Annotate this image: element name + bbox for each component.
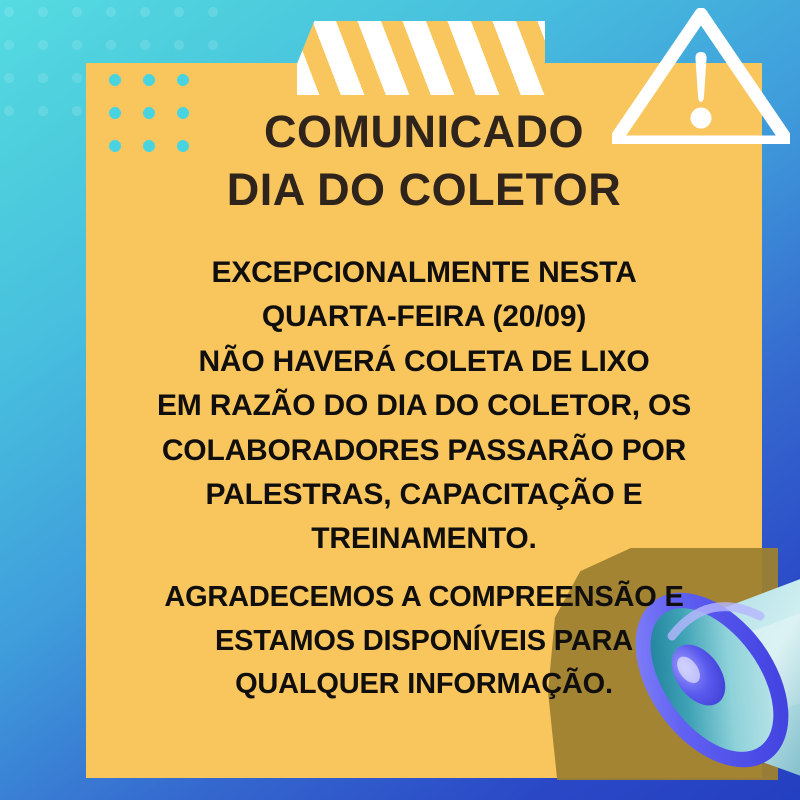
poster-content: COMUNICADO DIA DO COLETOR EXCEPCIONALMEN…: [86, 63, 762, 778]
title-block: COMUNICADO DIA DO COLETOR: [86, 103, 762, 218]
body-line-5: COLABORADORES PASSARÃO POR: [86, 429, 762, 473]
body-line-4: EM RAZÃO DO DIA DO COLETOR, OS: [86, 384, 762, 428]
body-line-7: TREINAMENTO.: [86, 517, 762, 561]
closing-text-block: AGRADECEMOS A COMPREENSÃO E ESTAMOS DISP…: [86, 576, 762, 707]
body-line-2: QUARTA-FEIRA (20/09): [86, 295, 762, 339]
page-title-line-2: DIA DO COLETOR: [86, 161, 762, 219]
closing-line-3: QUALQUER INFORMAÇÃO.: [86, 663, 762, 707]
poster-canvas: COMUNICADO DIA DO COLETOR EXCEPCIONALMEN…: [0, 0, 800, 800]
closing-line-2: ESTAMOS DISPONÍVEIS PARA: [86, 620, 762, 664]
body-line-6: PALESTRAS, CAPACITAÇÃO E: [86, 473, 762, 517]
body-line-1: EXCEPCIONALMENTE NESTA: [86, 251, 762, 295]
page-title-line-1: COMUNICADO: [86, 103, 762, 161]
body-line-3: NÃO HAVERÁ COLETA DE LIXO: [86, 340, 762, 384]
closing-line-1: AGRADECEMOS A COMPREENSÃO E: [86, 576, 762, 620]
body-text-block: EXCEPCIONALMENTE NESTA QUARTA-FEIRA (20/…: [86, 251, 762, 562]
